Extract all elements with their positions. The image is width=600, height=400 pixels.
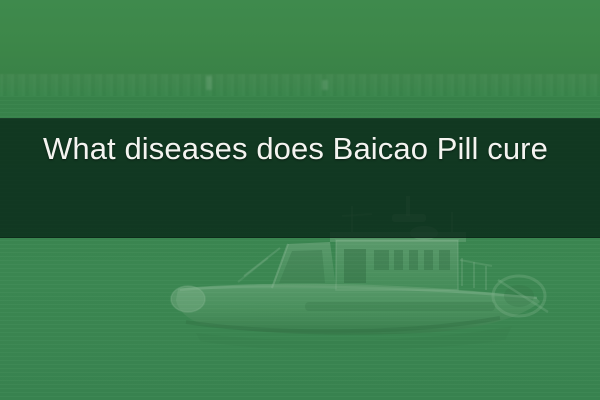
article-thumbnail-card: What diseases does Baicao Pill cure: [0, 0, 600, 400]
page-title: What diseases does Baicao Pill cure: [43, 130, 583, 167]
